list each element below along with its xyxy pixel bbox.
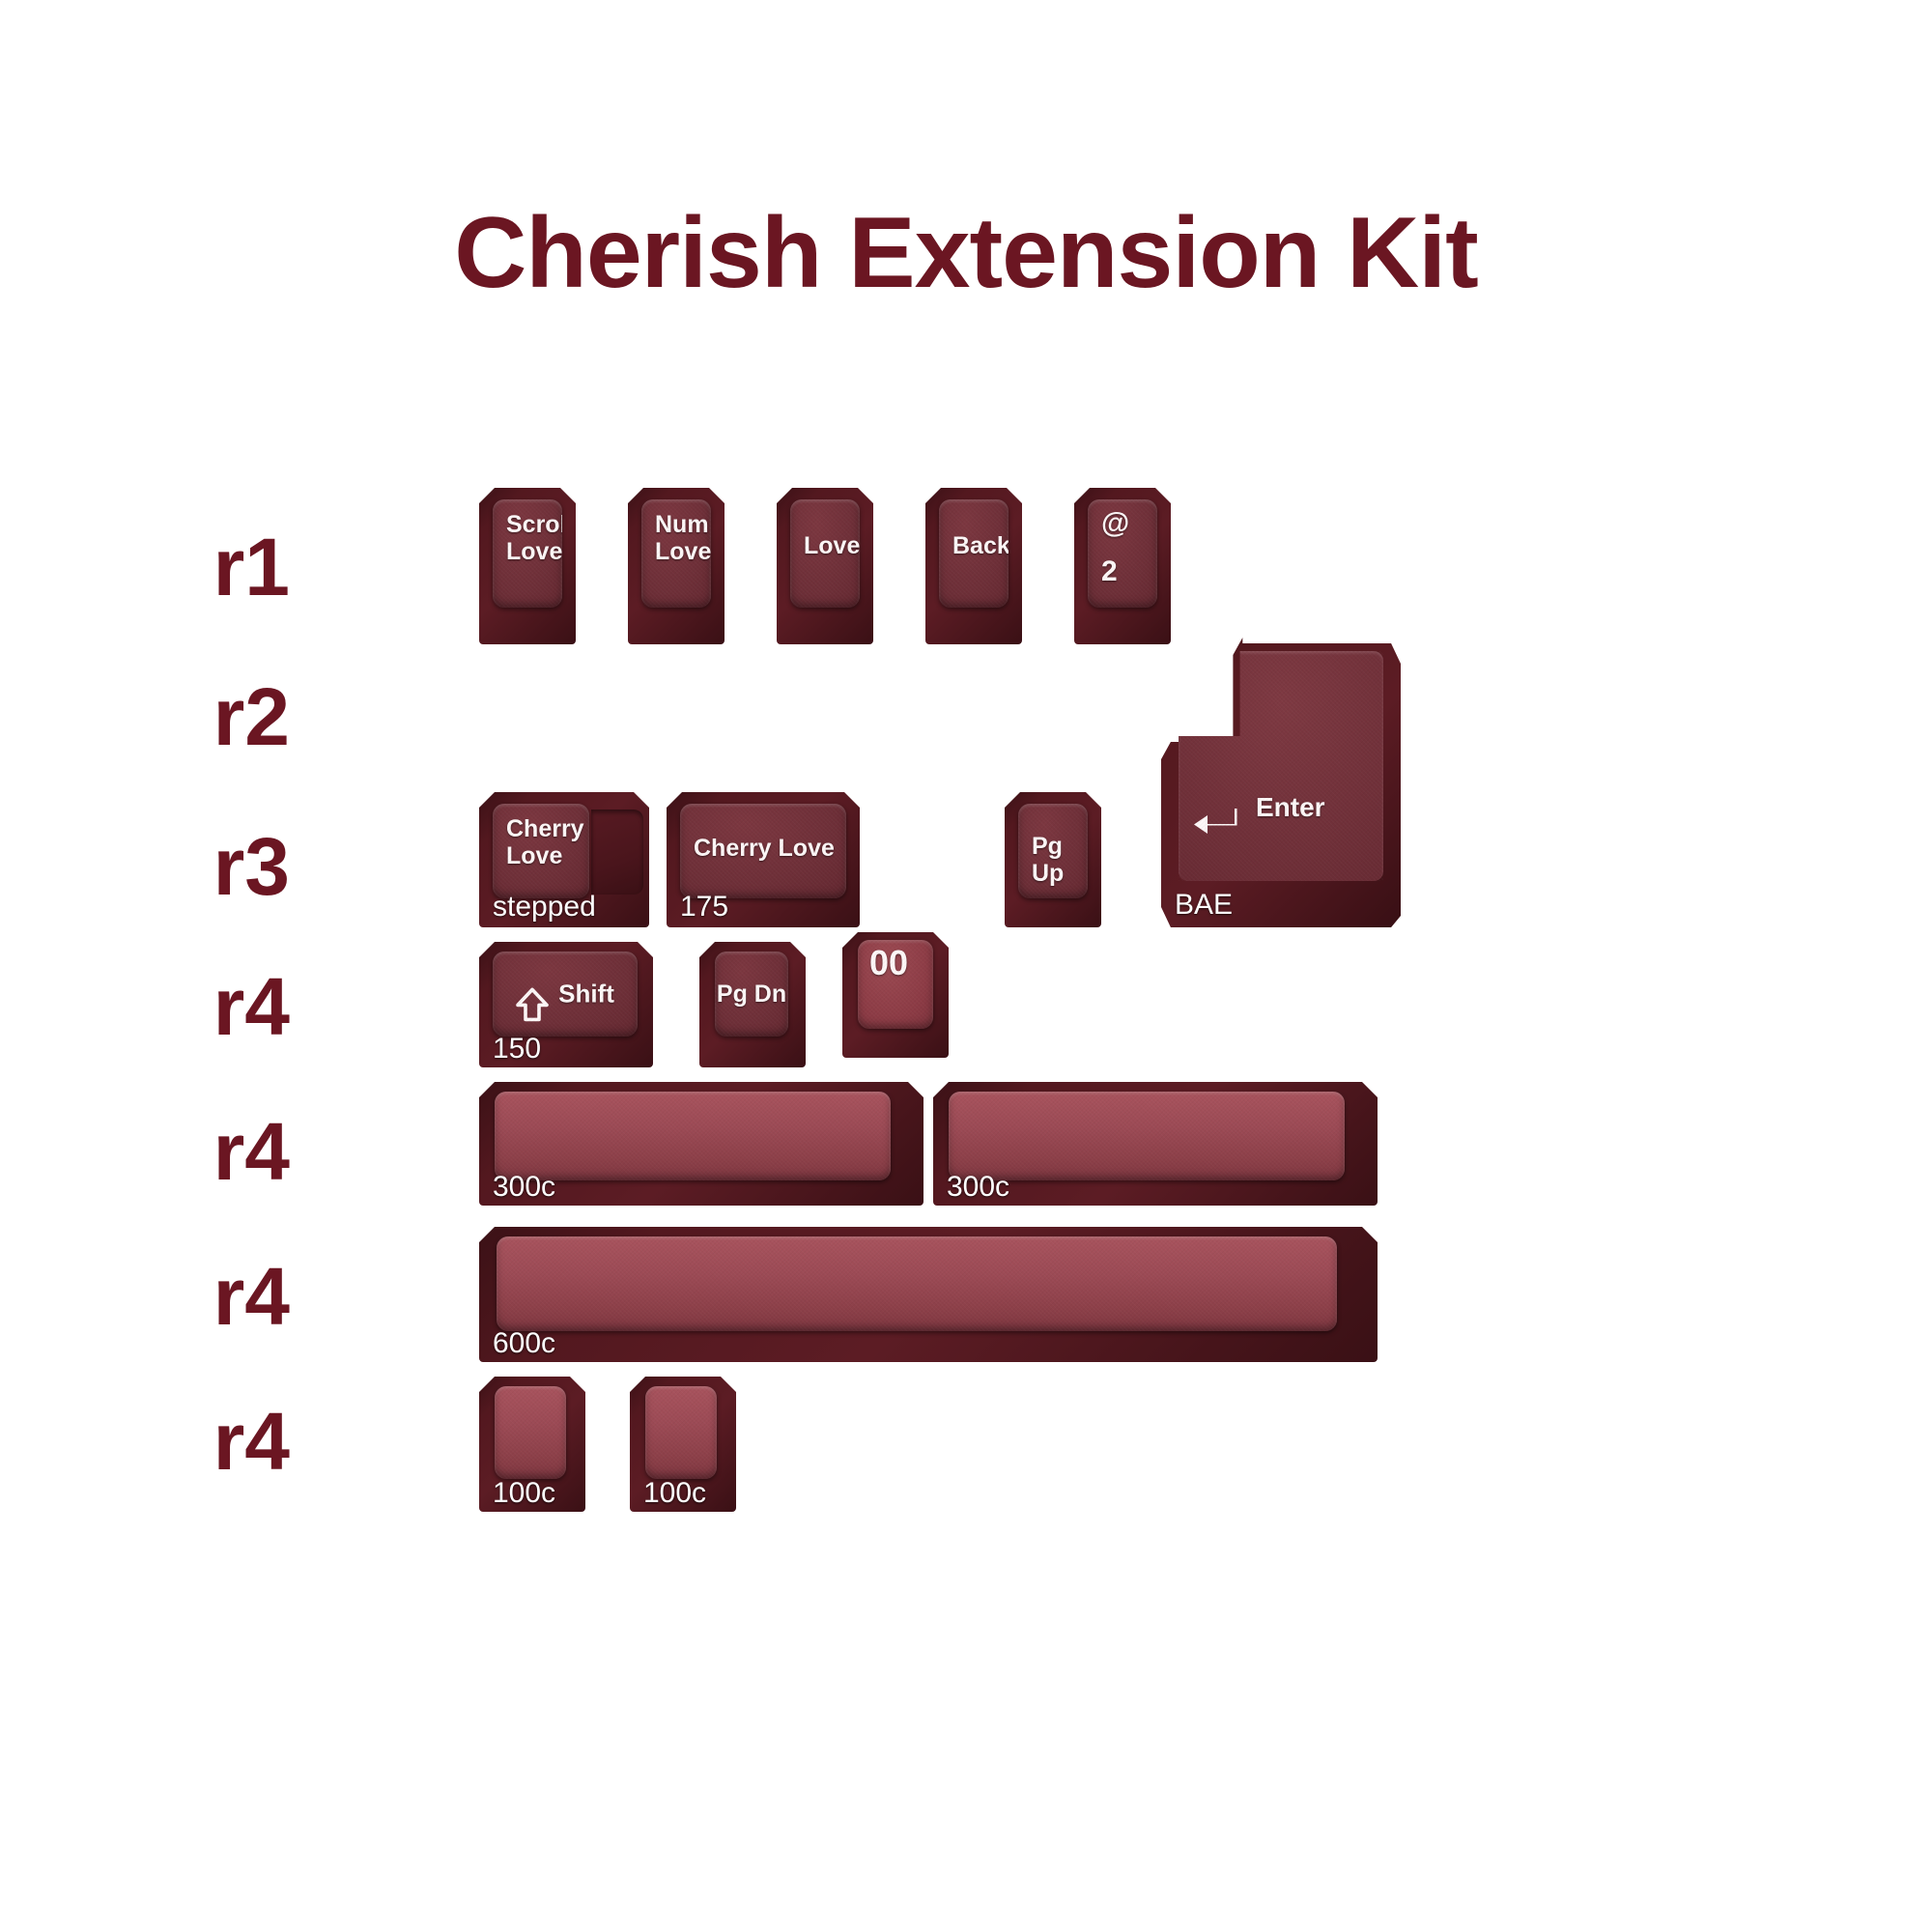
keycap-caption: stepped	[493, 891, 596, 923]
keycap-caption: 175	[680, 891, 728, 923]
keycap-caption: 100c	[493, 1477, 555, 1510]
keycap-top-surface: 00	[858, 940, 933, 1029]
keycap-spacebar-600c[interactable]: 600c	[479, 1227, 1378, 1362]
keycap-top-surface	[495, 1386, 566, 1479]
keycap-page-up[interactable]: Pg Up	[1005, 792, 1101, 927]
keycap-top-surface: Num Love	[641, 499, 711, 608]
keycap-legend: Scroll Love	[506, 511, 562, 565]
keycap-caption: 300c	[947, 1171, 1009, 1204]
enter-label: Enter	[1256, 792, 1325, 822]
enter-arrow-icon	[1192, 775, 1246, 840]
keycap-caption: 150	[493, 1033, 541, 1065]
row-label-r4-d: r4	[135, 1401, 290, 1482]
keycap-legend: Love	[804, 532, 860, 559]
keycap-scroll-love[interactable]: Scroll Love	[479, 488, 576, 644]
keycap-top-surface: Scroll Love	[493, 499, 562, 608]
row-label-r1: r1	[135, 526, 290, 608]
keycap-100c-right[interactable]: 100c	[630, 1377, 736, 1512]
keycap-legend: Back	[952, 532, 1009, 559]
keycap-top-surface	[497, 1236, 1337, 1331]
keycap-legend: 00	[869, 944, 908, 982]
keycap-double-zero[interactable]: 00	[842, 932, 949, 1058]
shift-legend-group: Shift	[493, 959, 638, 1028]
keycap-top-surface	[645, 1386, 717, 1479]
keycap-top-surface: Cherry Love	[493, 804, 589, 898]
keycap-100c-left[interactable]: 100c	[479, 1377, 585, 1512]
keycap-love[interactable]: Love	[777, 488, 873, 644]
keycap-top-surface: Enter	[1179, 651, 1383, 881]
keycap-top-surface: Love	[790, 499, 860, 608]
keycap-legend: Cherry Love	[506, 815, 584, 869]
keycap-top-surface: Pg Up	[1018, 804, 1088, 898]
page-title: Cherish Extension Kit	[0, 203, 1932, 303]
keycap-num-love[interactable]: Num Love	[628, 488, 724, 644]
keycap-top-surface: Shift	[493, 952, 638, 1037]
keycap-legend: Pg Dn	[715, 980, 788, 1008]
keycap-caption: 600c	[493, 1327, 555, 1360]
keycap-caption: 300c	[493, 1171, 555, 1204]
keycap-caption: 100c	[643, 1477, 706, 1510]
keycap-caps-lock-stepped[interactable]: Cherry Love stepped	[479, 792, 649, 927]
keycap-legend-shifted: @	[1101, 507, 1129, 540]
keycap-top-surface: Cherry Love	[680, 804, 846, 898]
row-label-r4-c: r4	[135, 1256, 290, 1337]
row-label-r4-b: r4	[135, 1111, 290, 1192]
row-label-r4-a: r4	[135, 966, 290, 1047]
keycap-top-surface	[495, 1092, 891, 1180]
shift-label: Shift	[558, 980, 614, 1008]
row-label-r3: r3	[135, 826, 290, 907]
keycap-shift[interactable]: Shift 150	[479, 942, 653, 1067]
keycap-back[interactable]: Back	[925, 488, 1022, 644]
keycap-cherry-love-175[interactable]: Cherry Love 175	[667, 792, 860, 927]
keycap-legend: Pg Up	[1032, 833, 1088, 887]
keycap-legend: Cherry Love	[694, 835, 835, 862]
shift-up-arrow-icon	[516, 959, 549, 1028]
keycap-top-surface	[949, 1092, 1345, 1180]
keycap-spacebar-300c-right[interactable]: 300c	[933, 1082, 1378, 1206]
keycap-spacebar-300c-left[interactable]: 300c	[479, 1082, 923, 1206]
row-label-r2: r2	[135, 676, 290, 757]
enter-legend-group: Enter	[1192, 775, 1325, 840]
keycap-top-surface: @ 2	[1088, 499, 1157, 608]
keycap-step-shelf	[591, 810, 643, 895]
keycap-top-surface: Back	[939, 499, 1009, 608]
keycap-caption: BAE	[1175, 889, 1233, 922]
keycap-page-down[interactable]: Pg Dn	[699, 942, 806, 1067]
keycap-top-surface: Pg Dn	[715, 952, 788, 1037]
keycap-legend: Num Love	[655, 511, 711, 565]
keycap-legend-base: 2	[1101, 555, 1118, 588]
keycap-iso-enter[interactable]: Enter BAE	[1161, 638, 1401, 927]
keycap-at-2[interactable]: @ 2	[1074, 488, 1171, 644]
